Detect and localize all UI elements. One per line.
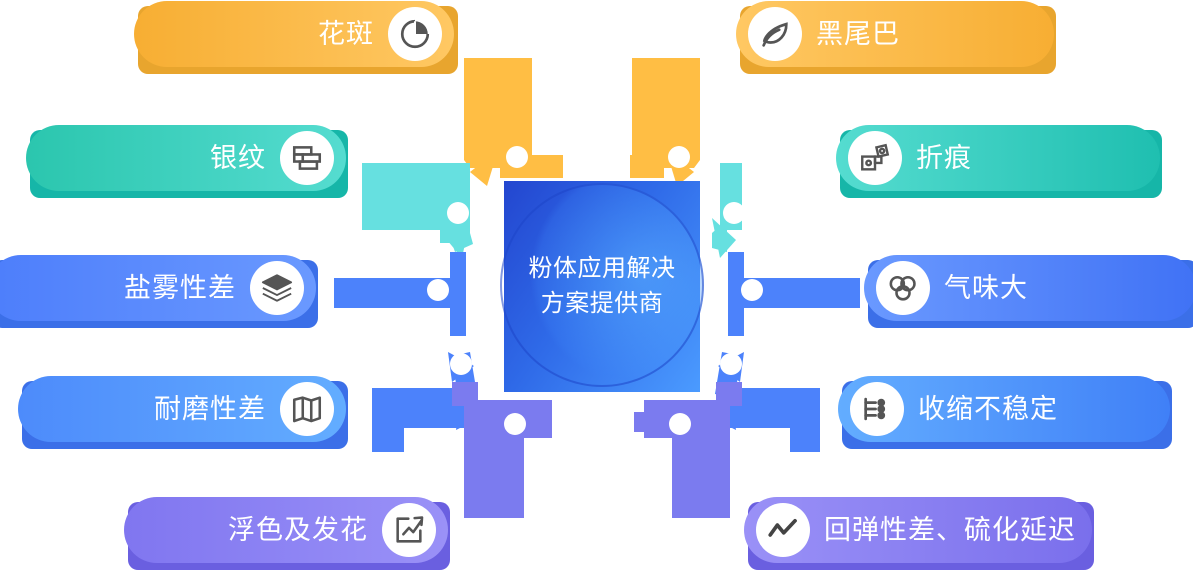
connector-node-1 <box>464 58 563 186</box>
line-chart-icon <box>756 503 810 557</box>
node-5-label: 盐雾性差 <box>124 275 236 302</box>
book-icon <box>280 382 334 436</box>
connector-node-3 <box>362 163 473 258</box>
recycle-icon <box>876 261 930 315</box>
node-label-nai-mo-xing-cha[interactable]: 耐磨性差 <box>18 376 346 442</box>
layers-icon <box>250 261 304 315</box>
connector-node-9 <box>452 382 552 518</box>
sitemap-icon <box>850 382 904 436</box>
brick-wall-icon <box>280 131 334 185</box>
node-6-label: 气味大 <box>944 275 1028 302</box>
node-label-hua-ban[interactable]: 花斑 <box>134 1 454 67</box>
connector-node-5 <box>334 252 466 336</box>
node-label-yan-wu-xing-cha[interactable]: 盐雾性差 <box>0 255 316 321</box>
node-2-label: 黑尾巴 <box>816 21 900 48</box>
node-label-yin-wen[interactable]: 银纹 <box>26 125 346 191</box>
connector-node-4 <box>712 163 832 258</box>
node-4-label: 折痕 <box>916 145 972 172</box>
pie-chart-icon <box>388 7 442 61</box>
center-label: 粉体应用解决 方案提供商 <box>529 252 676 322</box>
connector-node-10 <box>634 382 742 518</box>
node-label-qi-wei-da[interactable]: 气味大 <box>864 255 1193 321</box>
center-node: 粉体应用解决 方案提供商 <box>504 181 700 392</box>
diagram-canvas: 粉体应用解决 方案提供商 花斑 黑尾巴 银纹 <box>0 0 1193 577</box>
trend-box-icon <box>382 503 436 557</box>
node-9-label: 浮色及发花 <box>228 517 368 544</box>
node-10-label: 回弹性差、硫化延迟 <box>824 517 1076 544</box>
node-label-zhe-hen[interactable]: 折痕 <box>836 125 1160 191</box>
node-7-label: 耐磨性差 <box>154 396 266 423</box>
connector-node-6 <box>728 252 860 336</box>
leaf-icon <box>748 7 802 61</box>
puzzle-icon <box>848 131 902 185</box>
connector-node-2 <box>630 58 700 186</box>
node-label-fu-se-ji-fa-hua[interactable]: 浮色及发花 <box>124 497 448 563</box>
node-8-label: 收缩不稳定 <box>918 396 1058 423</box>
node-3-label: 银纹 <box>210 145 266 172</box>
node-label-hei-wei-ba[interactable]: 黑尾巴 <box>736 1 1054 67</box>
node-1-label: 花斑 <box>318 21 374 48</box>
center-label-line2: 方案提供商 <box>529 287 676 322</box>
center-label-line1: 粉体应用解决 <box>529 252 676 287</box>
node-label-hui-tan-xing-cha[interactable]: 回弹性差、硫化延迟 <box>744 497 1092 563</box>
node-label-shou-suo-bu-wen-ding[interactable]: 收缩不稳定 <box>838 376 1170 442</box>
